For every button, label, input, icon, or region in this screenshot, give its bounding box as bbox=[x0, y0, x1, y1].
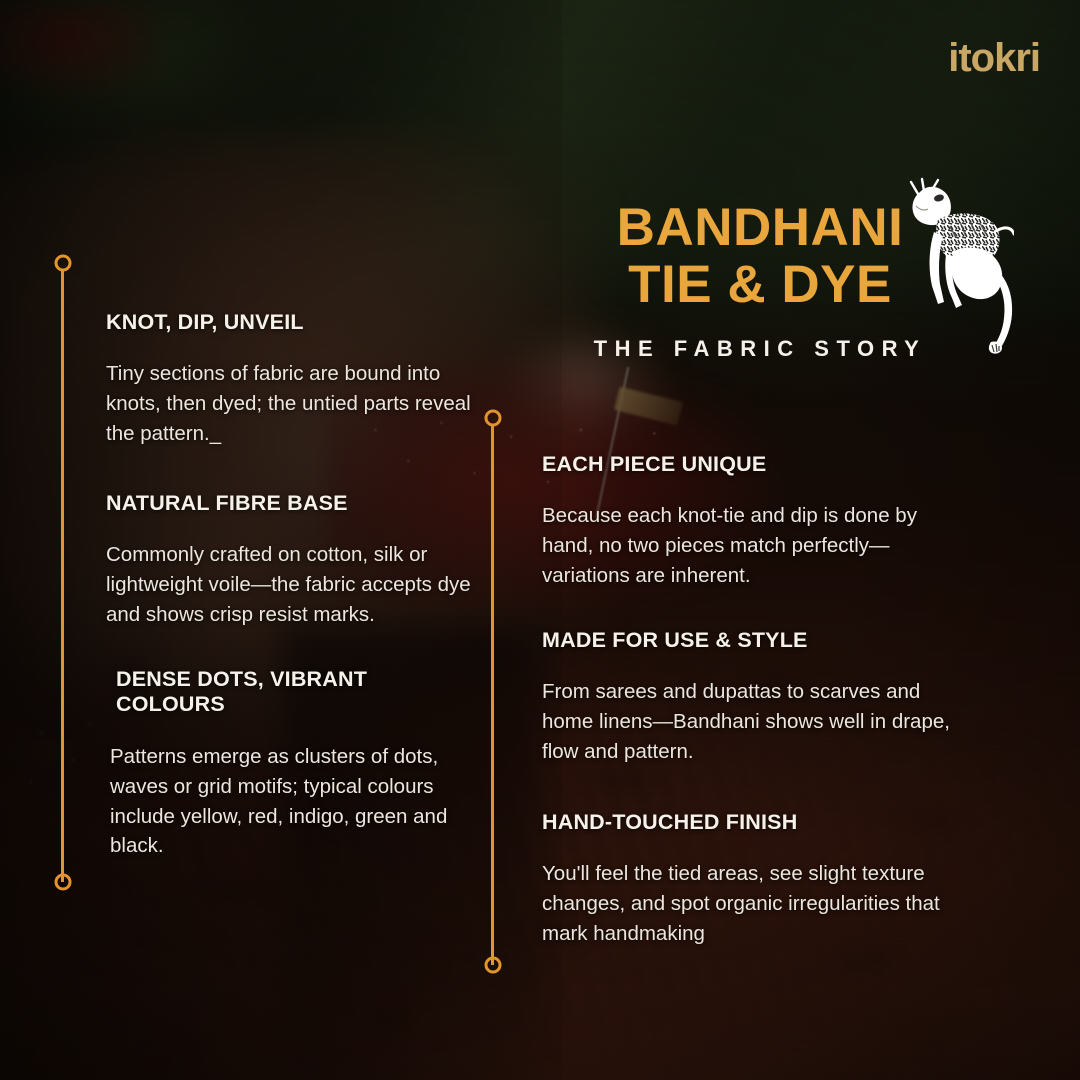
fact-body: Patterns emerge as clusters of dots, wav… bbox=[110, 742, 478, 862]
left-rail-top-node bbox=[54, 255, 71, 272]
fact-heading: HAND-TOUCHED FINISH bbox=[542, 810, 950, 835]
fact-body: Because each knot-tie and dip is done by… bbox=[542, 501, 950, 591]
right-rail-bottom-node bbox=[484, 957, 501, 974]
fact-heading: DENSE DOTS, VIBRANT COLOURS bbox=[116, 667, 478, 718]
right-connector-rail bbox=[491, 425, 494, 965]
goat-illustration bbox=[898, 176, 1014, 356]
fact-body: Tiny sections of fabric are bound into k… bbox=[106, 359, 478, 449]
infographic-poster: itokri BANDHANI TIE & DYE THE FABRIC STO… bbox=[0, 0, 1080, 1080]
right-rail-top-node bbox=[484, 410, 501, 427]
fact-body: From sarees and dupattas to scarves and … bbox=[542, 677, 950, 767]
fact-block-hand-touched-finish: HAND-TOUCHED FINISH You'll feel the tied… bbox=[542, 810, 950, 949]
fact-heading: EACH PIECE UNIQUE bbox=[542, 452, 950, 477]
fact-body: Commonly crafted on cotton, silk or ligh… bbox=[106, 540, 478, 630]
fact-block-made-for-use-and-style: MADE FOR USE & STYLE From sarees and dup… bbox=[542, 628, 950, 767]
fact-block-each-piece-unique: EACH PIECE UNIQUE Because each knot-tie … bbox=[542, 452, 950, 591]
itokri-logo[interactable]: itokri bbox=[948, 38, 1040, 78]
fact-block-dense-dots-vibrant-colours: DENSE DOTS, VIBRANT COLOURS Patterns eme… bbox=[106, 667, 478, 861]
poster-content: itokri BANDHANI TIE & DYE THE FABRIC STO… bbox=[0, 0, 1080, 1080]
fact-heading: MADE FOR USE & STYLE bbox=[542, 628, 950, 653]
fact-heading: NATURAL FIBRE BASE bbox=[106, 491, 478, 516]
left-rail-bottom-node bbox=[54, 874, 71, 891]
left-connector-rail bbox=[61, 270, 64, 882]
fact-body: You'll feel the tied areas, see slight t… bbox=[542, 859, 950, 949]
fact-block-knot-dip-unveil: KNOT, DIP, UNVEIL Tiny sections of fabri… bbox=[106, 310, 478, 449]
fact-block-natural-fibre-base: NATURAL FIBRE BASE Commonly crafted on c… bbox=[106, 491, 478, 630]
fact-heading: KNOT, DIP, UNVEIL bbox=[106, 310, 478, 335]
